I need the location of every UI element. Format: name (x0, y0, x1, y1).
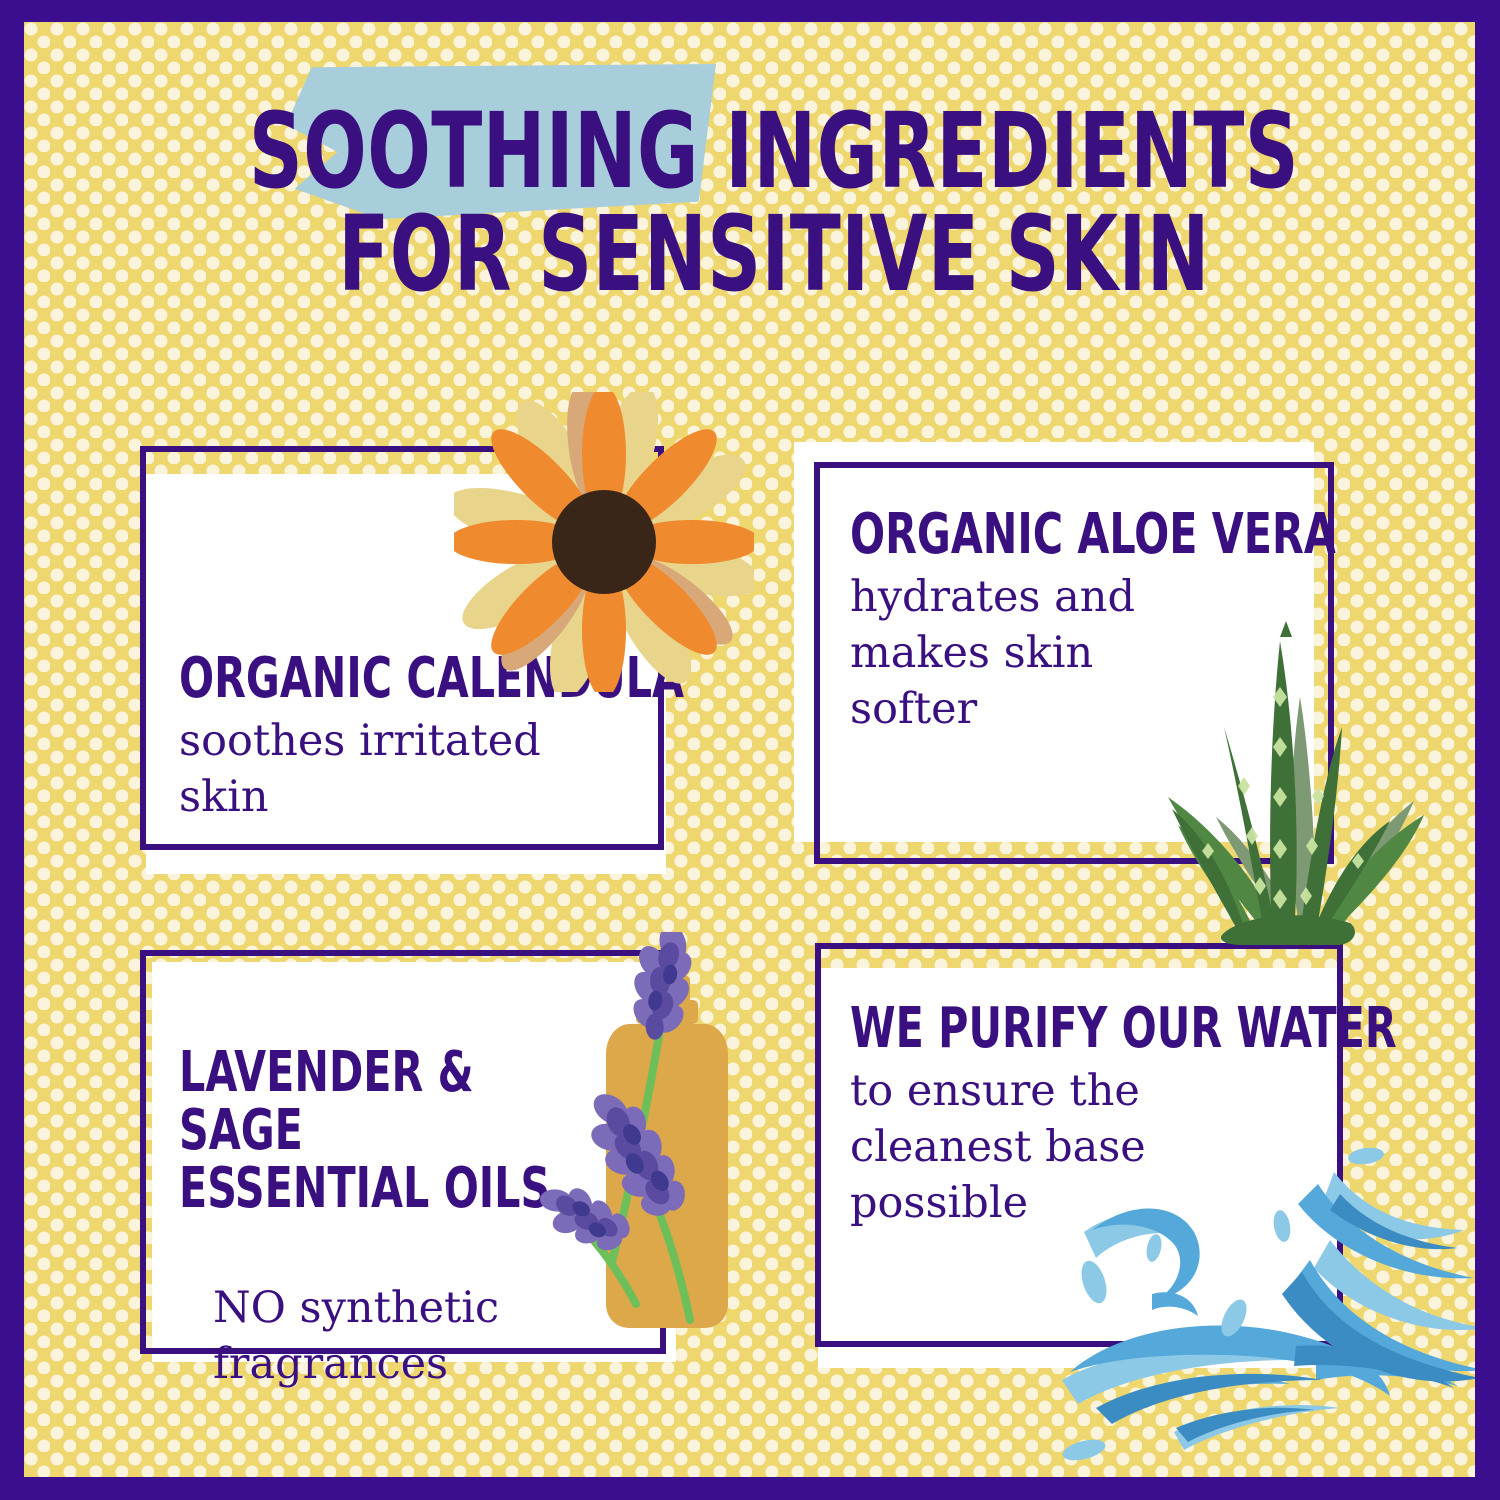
card-calendula-body: soothes irritated skin (179, 714, 649, 826)
card-water-text: WE PURIFY OUR WATER to ensure the cleane… (850, 1000, 1320, 1232)
card-water-body: to ensure the cleanest base possible (850, 1064, 1320, 1232)
card-aloe-body: hydrates and makes skin softer (850, 570, 1310, 738)
infographic-poster: SOOTHING INGREDIENTS FOR SENSITIVE SKIN … (0, 0, 1500, 1500)
card-essential-oils-heading: LAVENDER & SAGE ESSENTIAL OILS (179, 1044, 564, 1219)
title-banner-brushstroke (286, 64, 716, 224)
card-calendula-text: ORGANIC CALENDULA soothes irritated skin (179, 650, 649, 826)
card-essential-oils-text: LAVENDER & SAGE ESSENTIAL OILS NO synthe… (179, 1044, 649, 1392)
title-line-2: FOR SENSITIVE SKIN (174, 203, 1374, 306)
polka-dot-background: SOOTHING INGREDIENTS FOR SENSITIVE SKIN … (24, 22, 1475, 1477)
card-aloe-text: ORGANIC ALOE VERA hydrates and makes ski… (850, 506, 1310, 738)
card-essential-oils-body: NO synthetic fragrances (213, 1281, 649, 1393)
card-calendula-heading: ORGANIC CALENDULA (179, 650, 564, 708)
card-water-heading: WE PURIFY OUR WATER (850, 1000, 1235, 1058)
page-title: SOOTHING INGREDIENTS FOR SENSITIVE SKIN (24, 100, 1475, 306)
card-aloe-heading: ORGANIC ALOE VERA (850, 506, 1227, 564)
